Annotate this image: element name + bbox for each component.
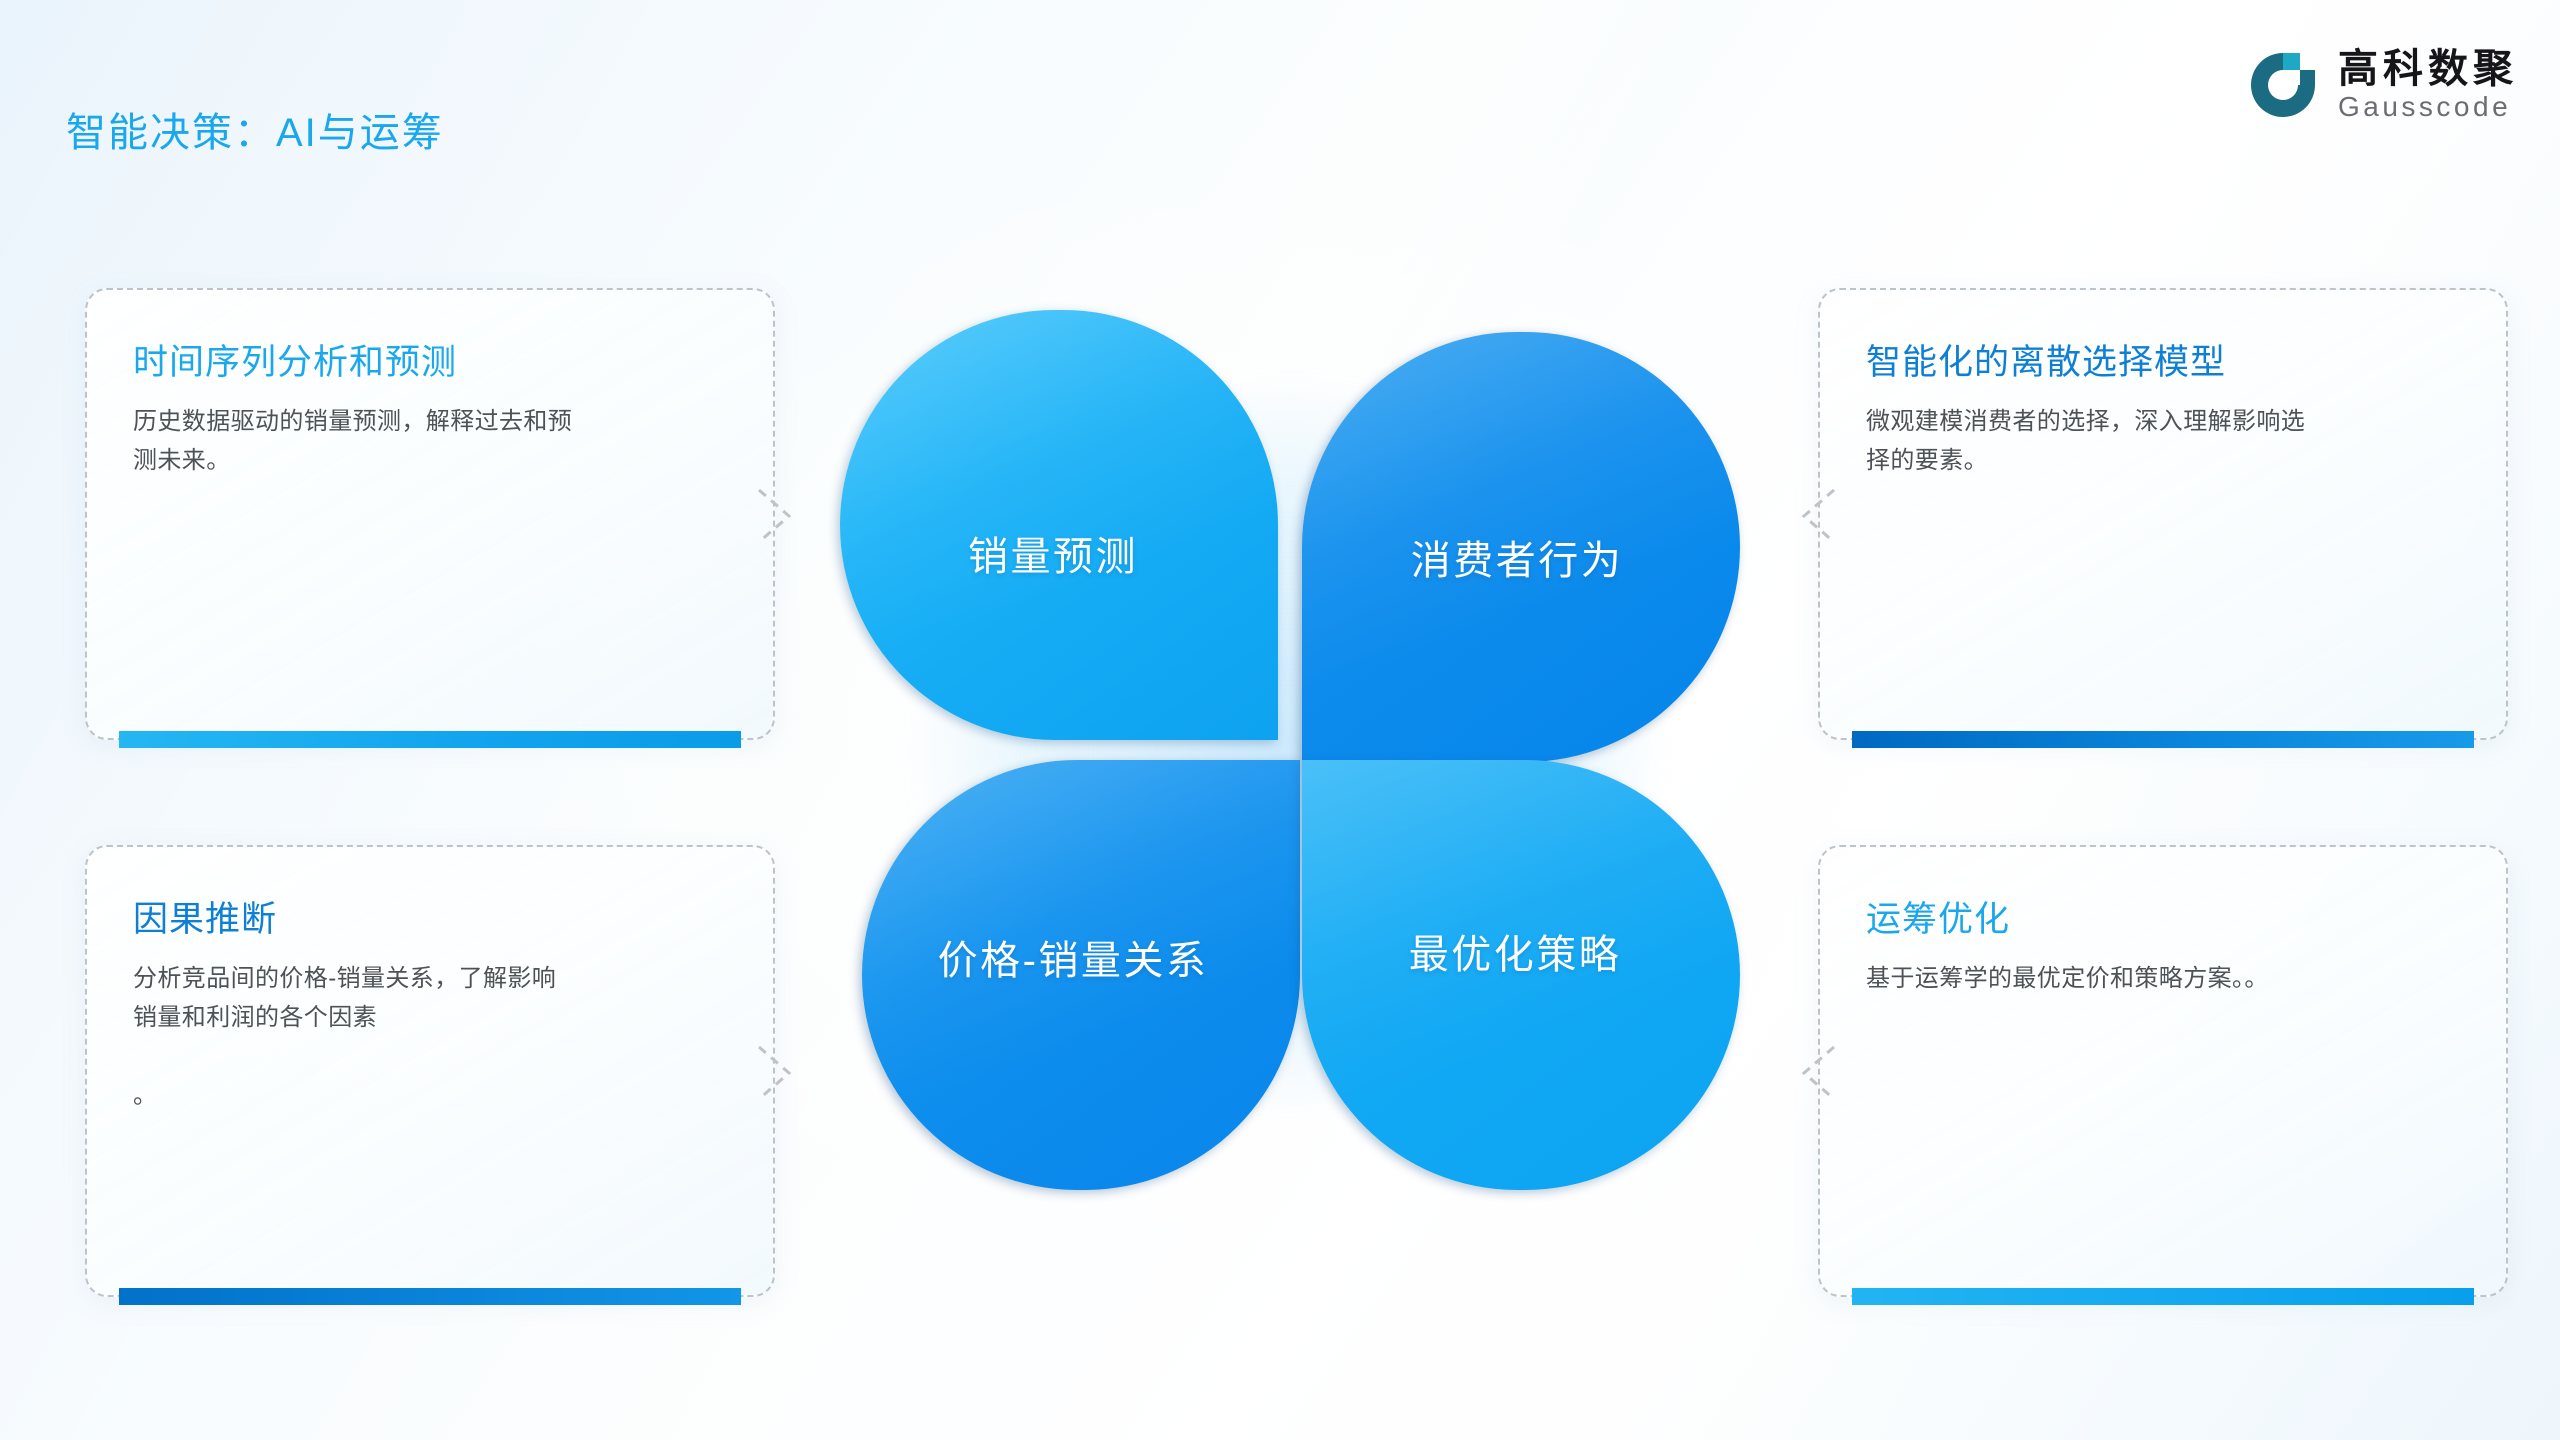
card-title: 因果推断 (133, 891, 727, 942)
card-causal-inference[interactable]: 因果推断 分析竞品间的价格-销量关系，了解影响 销量和利润的各个因素 。 (85, 845, 775, 1297)
card-title: 智能化的离散选择模型 (1866, 334, 2460, 385)
chevron-left-icon (1796, 486, 1838, 546)
brand-name-en: Gausscode (2338, 92, 2518, 121)
card-accent-bar (1852, 1288, 2474, 1305)
brand-text: 高科数聚 Gausscode (2338, 48, 2518, 121)
card-operations-optimization[interactable]: 运筹优化 基于运筹学的最优定价和策略方案。。 (1818, 845, 2508, 1297)
petal-label: 销量预测 (968, 524, 1138, 582)
card-discrete-choice-model[interactable]: 智能化的离散选择模型 微观建模消费者的选择，深入理解影响选 择的要素。 (1818, 288, 2508, 740)
card-title: 时间序列分析和预测 (133, 334, 727, 385)
card-time-series-analysis[interactable]: 时间序列分析和预测 历史数据驱动的销量预测，解释过去和预 测未来。 (85, 288, 775, 740)
petal-price-sales-relation[interactable]: 价格-销量关系 (862, 760, 1300, 1190)
petal-label: 价格-销量关系 (938, 928, 1209, 986)
card-accent-bar (119, 731, 741, 748)
card-body: 微观建模消费者的选择，深入理解影响选 择的要素。 (1866, 403, 2460, 481)
chevron-right-icon (755, 1043, 797, 1103)
card-title: 运筹优化 (1866, 891, 2460, 942)
card-body: 历史数据驱动的销量预测，解释过去和预 测未来。 (133, 403, 727, 481)
chevron-right-icon (755, 486, 797, 546)
brand-logo: 高科数聚 Gausscode (2246, 48, 2518, 122)
petal-diagram: 销量预测 消费者行为 价格-销量关系 最优化策略 (840, 310, 1740, 1190)
card-accent-bar (1852, 731, 2474, 748)
petal-sales-forecast[interactable]: 销量预测 (840, 310, 1278, 740)
petal-optimization-strategy[interactable]: 最优化策略 (1302, 760, 1740, 1190)
petal-consumer-behavior[interactable]: 消费者行为 (1302, 332, 1740, 762)
card-body: 分析竞品间的价格-销量关系，了解影响 销量和利润的各个因素 。 (133, 960, 727, 1116)
card-accent-bar (119, 1288, 741, 1305)
page-title: 智能决策：AI与运筹 (66, 100, 444, 158)
chevron-left-icon (1796, 1043, 1838, 1103)
petal-label: 消费者行为 (1411, 528, 1624, 586)
card-body: 基于运筹学的最优定价和策略方案。。 (1866, 960, 2460, 999)
petal-label: 最优化策略 (1409, 922, 1622, 980)
gausscode-circle-square-logo (2246, 48, 2320, 122)
brand-name-cn: 高科数聚 (2338, 48, 2518, 90)
